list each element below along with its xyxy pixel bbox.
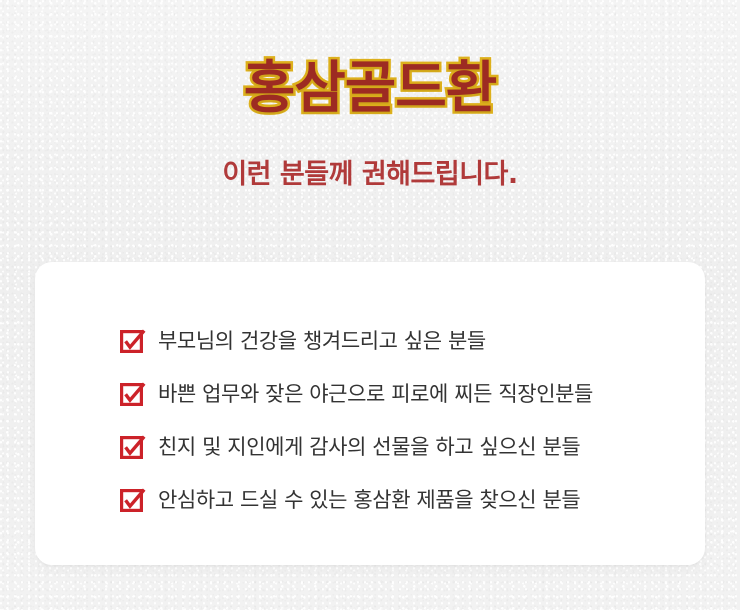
checkbox-checked-icon <box>120 330 143 353</box>
audience-list: 부모님의 건강을 챙겨드리고 싶은 분들 바쁜 업무와 잦은 야근으로 피로에 … <box>120 324 593 517</box>
list-item-label: 바쁜 업무와 잦은 야근으로 피로에 찌든 직장인분들 <box>158 379 593 409</box>
page-title: 홍삼골드환 <box>0 52 740 126</box>
list-item: 바쁜 업무와 잦은 야근으로 피로에 찌든 직장인분들 <box>120 377 593 411</box>
list-item-label: 부모님의 건강을 챙겨드리고 싶은 분들 <box>158 326 486 356</box>
checkbox-checked-icon <box>120 383 143 406</box>
list-item-label: 친지 및 지인에게 감사의 선물을 하고 싶으신 분들 <box>158 432 580 462</box>
audience-card: 부모님의 건강을 챙겨드리고 싶은 분들 바쁜 업무와 잦은 야근으로 피로에 … <box>35 262 705 565</box>
checkbox-checked-icon <box>120 489 143 512</box>
list-item: 친지 및 지인에게 감사의 선물을 하고 싶으신 분들 <box>120 430 593 464</box>
checkbox-checked-icon <box>120 436 143 459</box>
list-item-label: 안심하고 드실 수 있는 홍삼환 제품을 찾으신 분들 <box>158 485 580 515</box>
promo-page: 홍삼골드환 이런 분들께 권해드립니다. 부모님의 건강을 챙겨드리고 싶은 분… <box>0 0 740 610</box>
list-item: 안심하고 드실 수 있는 홍삼환 제품을 찾으신 분들 <box>120 483 593 517</box>
list-item: 부모님의 건강을 챙겨드리고 싶은 분들 <box>120 324 593 358</box>
page-subtitle: 이런 분들께 권해드립니다. <box>0 156 740 194</box>
